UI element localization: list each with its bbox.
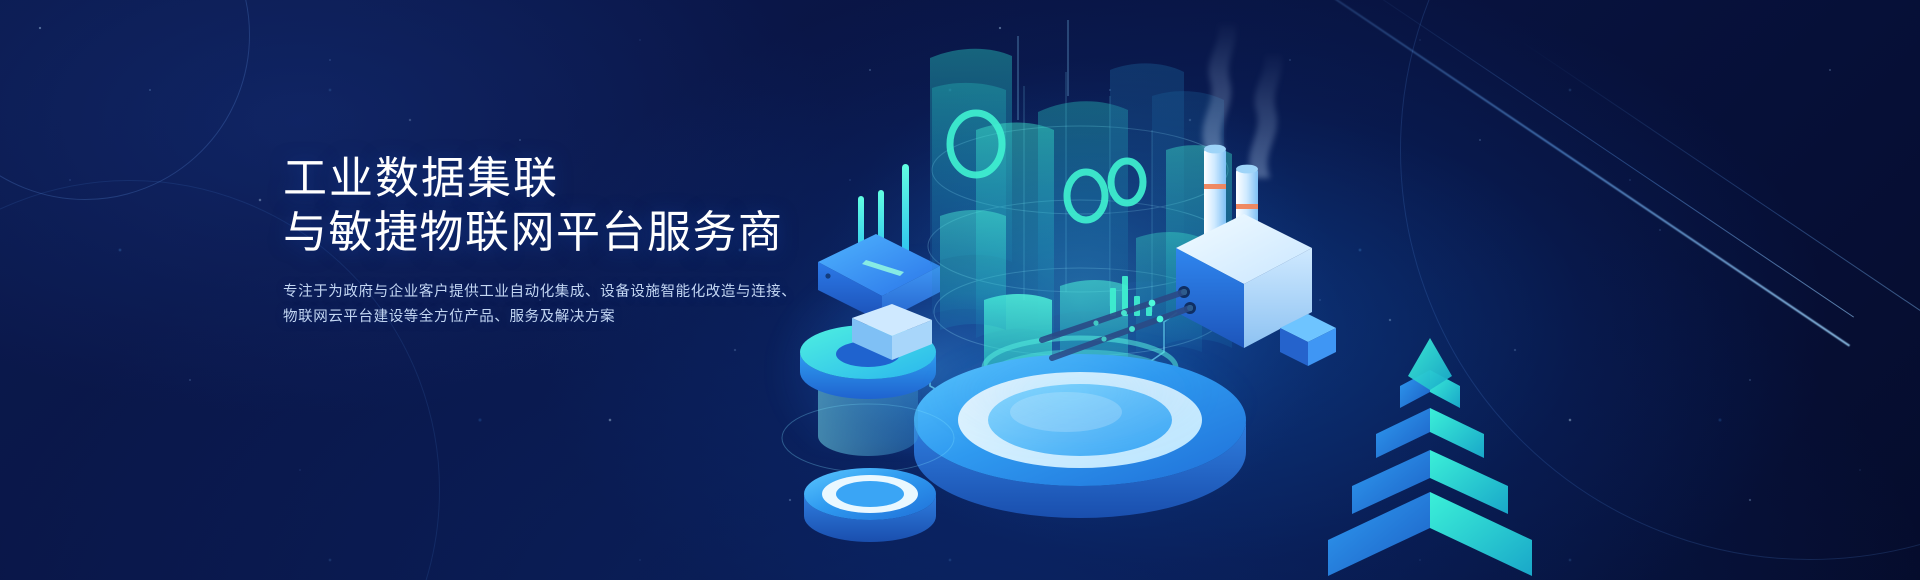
decorative-arc-top-left <box>0 0 250 200</box>
hero-copy: 工业数据集联 与敏捷物联网平台服务商 专注于为政府与企业客户提供工业自动化集成、… <box>283 152 843 330</box>
smokestack-left-band <box>1204 184 1226 189</box>
small-disc-core <box>836 481 904 507</box>
subtitle-line-2: 物联网云平台建设等全方位产品、服务及解决方案 <box>283 305 803 330</box>
pyramid-tier-2-left <box>1376 408 1430 458</box>
light-streak-3 <box>1519 40 1920 332</box>
ring-token-group <box>782 304 954 542</box>
router-antenna-right <box>902 164 909 256</box>
panel-mid-1 <box>940 210 1006 330</box>
headline-line-2: 与敏捷物联网平台服务商 <box>283 206 843 260</box>
smokestack-right-rim <box>1236 165 1258 174</box>
subtitle-line-1: 专注于为政府与企业客户提供工业自动化集成、设备设施智能化改造与连接、 <box>283 280 803 305</box>
smokestack-right-band <box>1236 204 1258 209</box>
smokestack-left-rim <box>1204 145 1226 154</box>
page-title: 工业数据集联 与敏捷物联网平台服务商 <box>283 152 843 260</box>
hero-illustration <box>780 0 1540 580</box>
foreground-glow <box>920 334 1220 450</box>
hero-subtitle: 专注于为政府与企业客户提供工业自动化集成、设备设施智能化改造与连接、 物联网云平… <box>283 280 803 330</box>
hero-banner: 工业数据集联 与敏捷物联网平台服务商 专注于为政府与企业客户提供工业自动化集成、… <box>0 0 1920 580</box>
pyramid-tier-2-right <box>1430 408 1484 458</box>
headline-line-1: 工业数据集联 <box>283 152 843 206</box>
small-disc <box>804 468 936 542</box>
pyramid-stack <box>1328 338 1532 580</box>
